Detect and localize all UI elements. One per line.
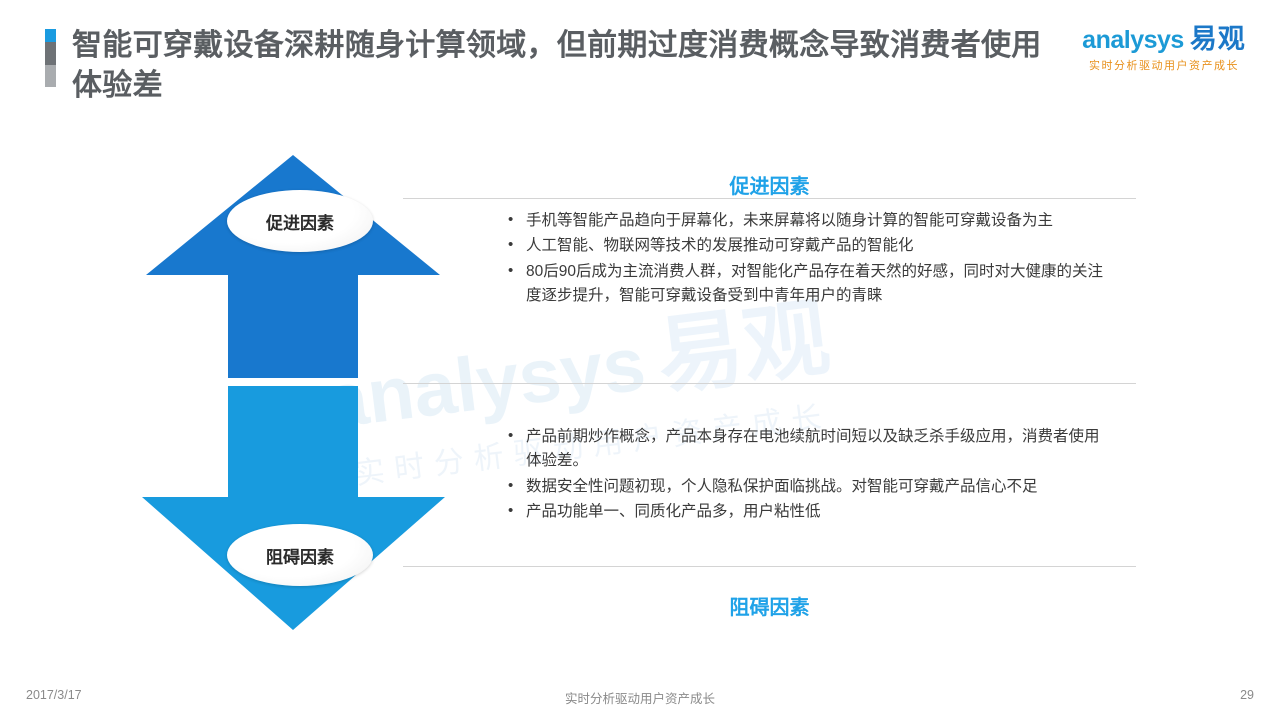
page-title: 智能可穿戴设备深耕随身计算领域，但前期过度消费概念导致消费者使用体验差: [72, 26, 1062, 106]
down-arrow-label: 阻碍因素: [227, 524, 373, 586]
up-arrow-icon: [146, 155, 440, 378]
up-arrow-label: 促进因素: [227, 190, 373, 252]
list-item: 人工智能、物联网等技术的发展推动可穿戴产品的智能化: [508, 234, 1108, 258]
analysys-logo: analysys易观 实时分析驱动用户资产成长: [1066, 26, 1262, 73]
title-accent-bar: [45, 29, 56, 87]
footer-tagline: 实时分析驱动用户资产成长: [0, 688, 1280, 707]
slide-root: 智能可穿戴设备深耕随身计算领域，但前期过度消费概念导致消费者使用体验差 anal…: [0, 0, 1280, 720]
divider-middle: [403, 383, 1136, 384]
drivers-heading: 促进因素: [403, 170, 1136, 199]
divider-top: [403, 198, 1136, 199]
logo-tagline: 实时分析驱动用户资产成长: [1066, 57, 1262, 73]
logo-brand-cn: 易观: [1190, 24, 1246, 54]
drivers-list: 手机等智能产品趋向于屏幕化，未来屏幕将以随身计算的智能可穿戴设备为主 人工智能、…: [508, 209, 1108, 310]
up-arrow-label-text: 促进因素: [266, 209, 334, 234]
logo-brand-en: analysys: [1082, 26, 1184, 54]
list-item: 手机等智能产品趋向于屏幕化，未来屏幕将以随身计算的智能可穿戴设备为主: [508, 209, 1108, 233]
list-item: 产品前期炒作概念，产品本身存在电池续航时间短以及缺乏杀手级应用，消费者使用体验差…: [508, 425, 1108, 474]
list-item: 产品功能单一、同质化产品多，用户粘性低: [508, 500, 1108, 524]
down-arrow-icon: [142, 386, 445, 630]
down-arrow-label-text: 阻碍因素: [266, 543, 334, 568]
list-item: 80后90后成为主流消费人群，对智能化产品存在着天然的好感，同时对大健康的关注度…: [508, 260, 1108, 309]
barriers-list: 产品前期炒作概念，产品本身存在电池续航时间短以及缺乏杀手级应用，消费者使用体验差…: [508, 425, 1108, 526]
logo-wordmark: analysys易观: [1066, 26, 1262, 53]
list-item: 数据安全性问题初现，个人隐私保护面临挑战。对智能可穿戴产品信心不足: [508, 475, 1108, 499]
footer-page-number: 29: [1240, 688, 1254, 702]
divider-bottom: [403, 566, 1136, 567]
barriers-heading: 阻碍因素: [403, 591, 1136, 620]
